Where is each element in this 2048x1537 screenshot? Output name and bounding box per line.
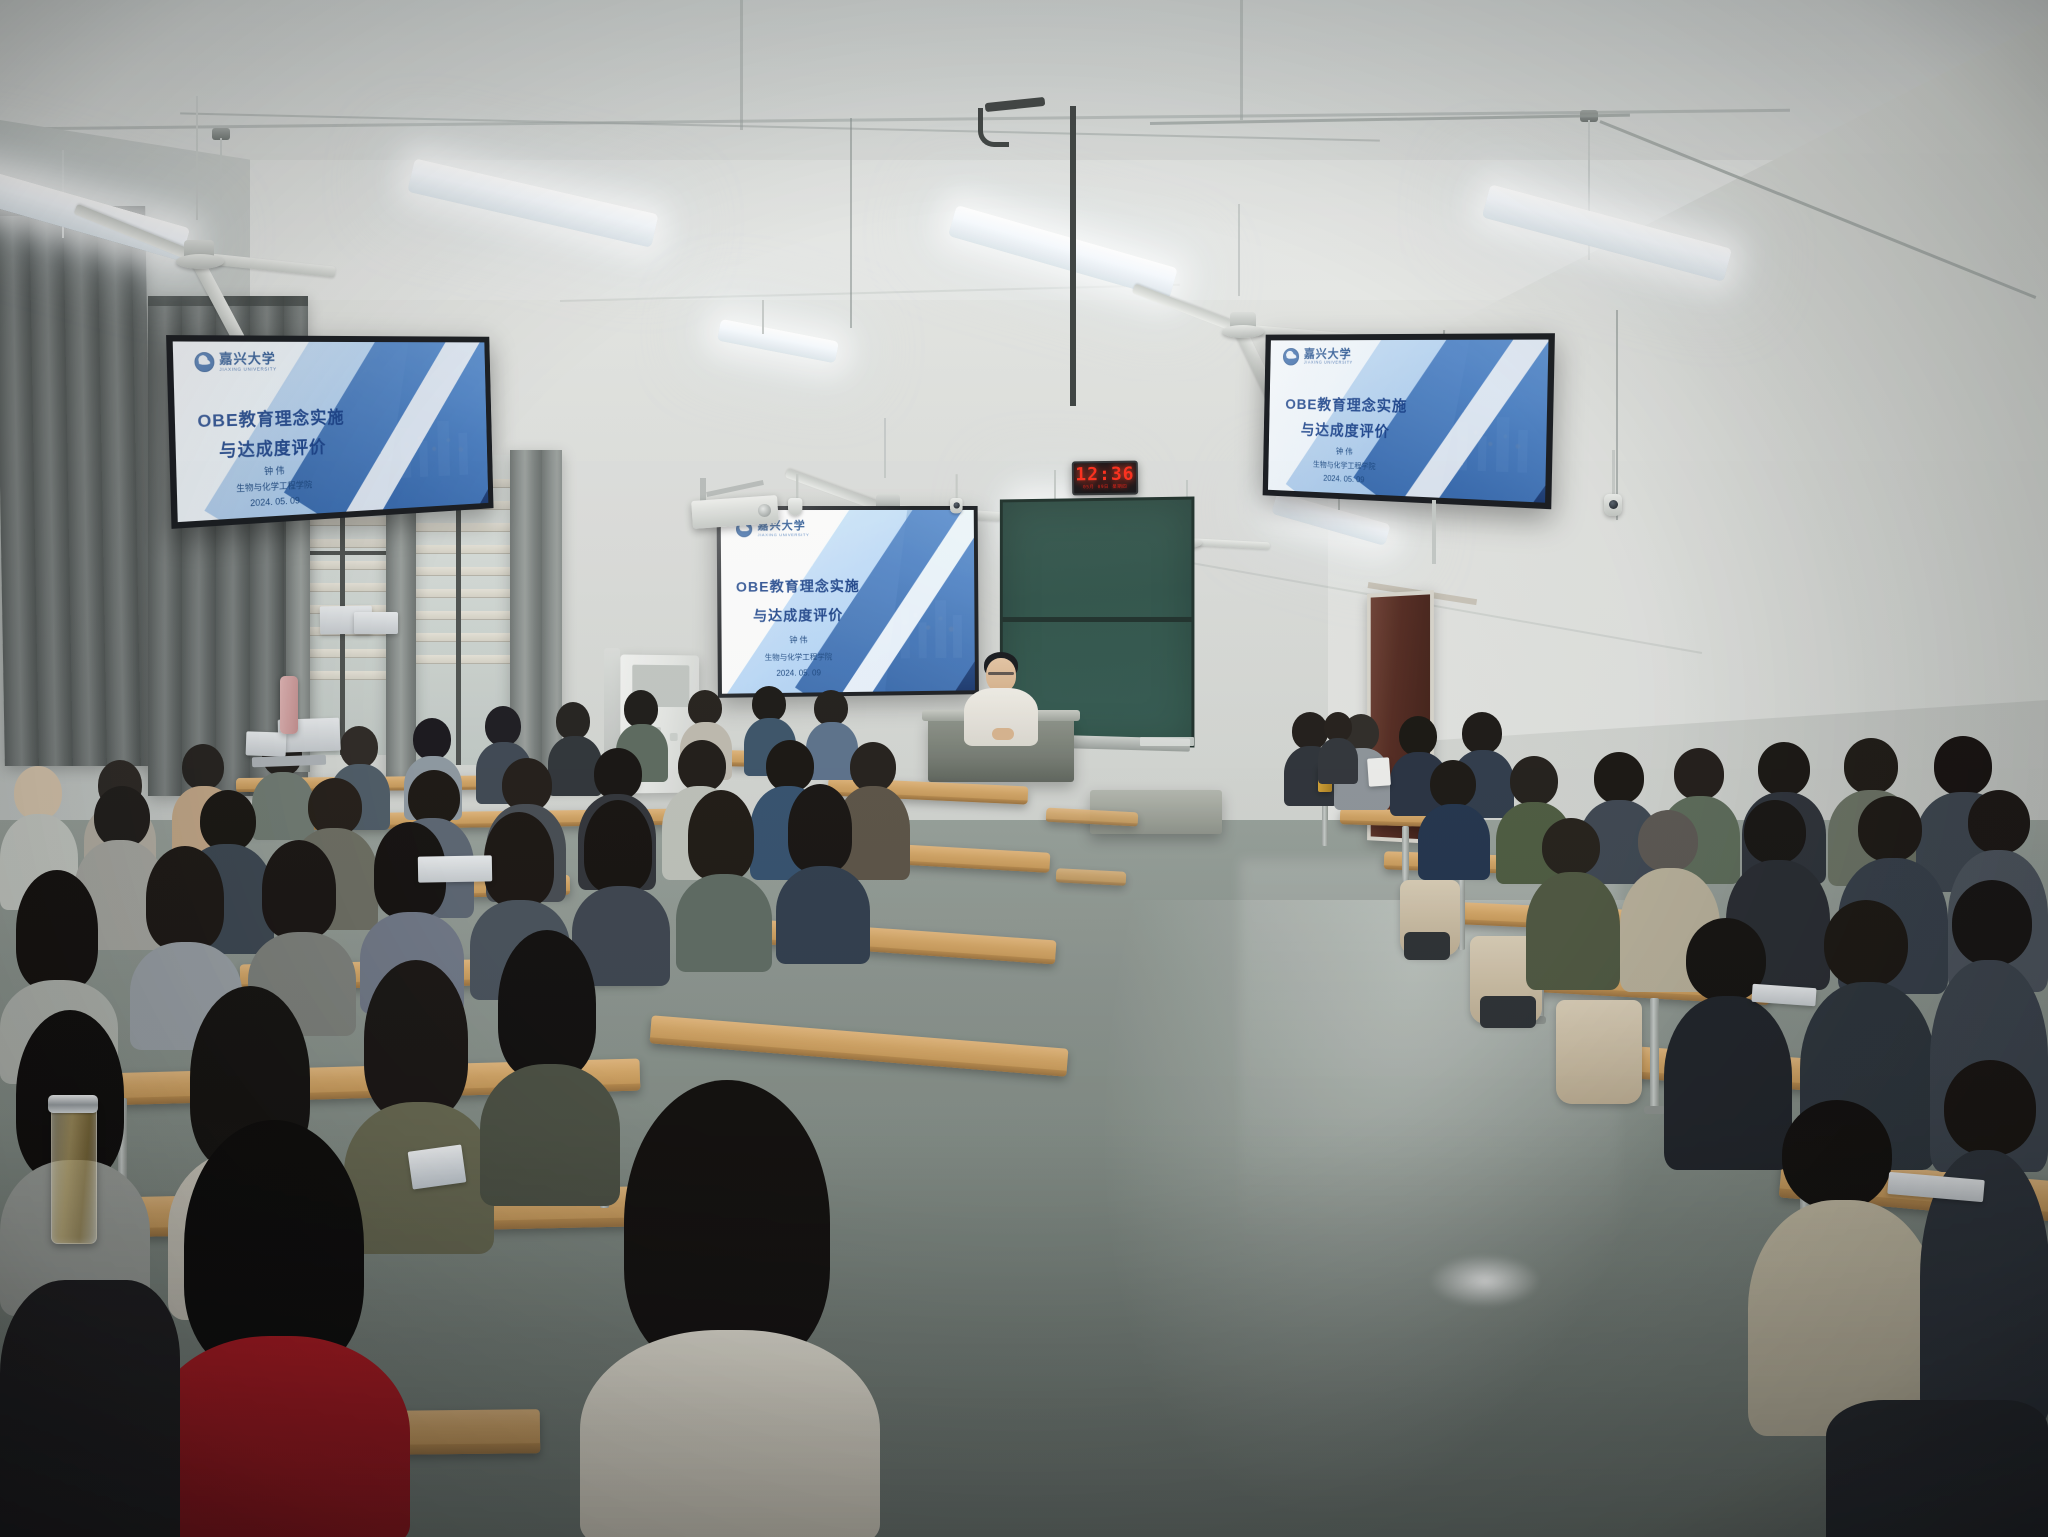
- university-emblem-icon: [1283, 348, 1299, 365]
- clock-date-label: 05月 09日 星期四: [1083, 485, 1127, 490]
- ceiling-seam: [740, 0, 743, 130]
- light-drop-rod: [220, 138, 222, 200]
- pole-hook: [978, 108, 1009, 147]
- slide-title-line2: 与达成度评价: [1269, 418, 1424, 443]
- projector-lens-icon: [758, 504, 772, 518]
- audience-person-white-jacket: [580, 1080, 880, 1537]
- slide-canvas-left: 嘉兴大学 JIAXING UNIVERSITY OBE教育理念实施 与达成度评价…: [173, 341, 489, 522]
- glass-tea-jar: [51, 1104, 97, 1244]
- chalkboard-divider: [1003, 617, 1192, 622]
- floor-light-reflection: [1430, 1255, 1540, 1307]
- right-wall-monitor[interactable]: 嘉兴大学 JIAXING UNIVERSITY OBE教育理念实施 与达成度评价…: [1263, 333, 1555, 509]
- university-name-en: JIAXING UNIVERSITY: [758, 533, 810, 537]
- presenter-glasses-icon: [988, 672, 1014, 675]
- university-emblem-icon: [194, 353, 214, 373]
- audience-person-dark-foreground: [0, 1280, 180, 1537]
- light-drop-rod: [762, 300, 764, 334]
- slide-title-line1: OBE教育理念实施: [1269, 393, 1424, 416]
- university-logo: 嘉兴大学 JIAXING UNIVERSITY: [1283, 348, 1353, 366]
- left-wall-monitor[interactable]: 嘉兴大学 JIAXING UNIVERSITY OBE教育理念实施 与达成度评价…: [166, 335, 493, 529]
- audience-person: [1826, 1400, 2048, 1537]
- fan-drop-rod: [196, 96, 198, 220]
- laptop[interactable]: [246, 731, 287, 756]
- desk-foot: [1644, 1106, 1666, 1114]
- digital-wall-clock: 12:36 05月 09日 星期四: [1072, 461, 1138, 496]
- presenter: [952, 652, 1048, 744]
- curtain-left-outer: [0, 206, 155, 766]
- hanging-wire: [850, 118, 852, 328]
- laptop[interactable]: [354, 612, 398, 634]
- laptop[interactable]: [418, 855, 492, 882]
- fan-drop-rod: [884, 418, 886, 478]
- lecture-hall-photo: 嘉兴大学 JIAXING UNIVERSITY OBE教育理念实施 与达成度评价…: [0, 0, 2048, 1537]
- tablet-device[interactable]: [408, 1144, 467, 1189]
- slide-date: 2024. 05. 09: [722, 668, 875, 679]
- ceiling-slab: [0, 0, 2048, 160]
- clock-time: 12:36: [1075, 465, 1134, 484]
- slide-canvas-center: 嘉兴大学 JIAXING UNIVERSITY OBE教育理念实施 与达成度评价…: [721, 510, 975, 694]
- desk-leg: [1650, 998, 1659, 1110]
- chair[interactable]: [1556, 1000, 1642, 1104]
- chair-seat[interactable]: [1404, 932, 1450, 960]
- university-name-cn: 嘉兴大学: [219, 352, 277, 366]
- chalk-tray-label: [1140, 737, 1194, 746]
- ceiling-projector: [691, 495, 779, 529]
- black-pole: [1070, 106, 1076, 406]
- university-name-en: JIAXING UNIVERSITY: [1304, 361, 1353, 365]
- fan-drop-rod: [1238, 204, 1240, 296]
- slide-canvas-right: 嘉兴大学 JIAXING UNIVERSITY OBE教育理念实施 与达成度评价…: [1268, 340, 1548, 503]
- university-name-en: JIAXING UNIVERSITY: [219, 368, 276, 373]
- water-bottle: [280, 676, 298, 734]
- projector-mount-arm: [700, 478, 706, 502]
- audience-person: [1748, 1100, 1938, 1430]
- presenter-hands: [992, 728, 1014, 740]
- audience-person: [776, 784, 870, 962]
- presenter-head: [986, 658, 1016, 692]
- audience-person: [1526, 818, 1620, 988]
- ceiling-seam: [1240, 0, 1243, 120]
- slide-title-line1: OBE教育理念实施: [721, 575, 874, 596]
- university-name-cn: 嘉兴大学: [1304, 348, 1353, 360]
- audience-person: [1318, 712, 1358, 782]
- audience-person: [676, 790, 772, 970]
- center-projection-screen[interactable]: 嘉兴大学 JIAXING UNIVERSITY OBE教育理念实施 与达成度评价…: [717, 506, 979, 698]
- monitor-mount-bracket: [1432, 500, 1436, 564]
- audience-person: [1920, 1060, 2048, 1420]
- university-logo: 嘉兴大学 JIAXING UNIVERSITY: [194, 352, 277, 373]
- hanging-wire: [1616, 310, 1618, 520]
- slide-presenter: 钟 伟: [722, 634, 875, 647]
- paper-sheet: [1367, 757, 1391, 786]
- tea-jar-lid: [48, 1095, 98, 1113]
- audience-person-red: [150, 1120, 410, 1537]
- chair-seat[interactable]: [1480, 996, 1536, 1028]
- slide-department: 生物与化学工程学院: [722, 651, 875, 664]
- slide-title-line2: 与达成度评价: [721, 604, 874, 625]
- audience-person: [1418, 760, 1490, 876]
